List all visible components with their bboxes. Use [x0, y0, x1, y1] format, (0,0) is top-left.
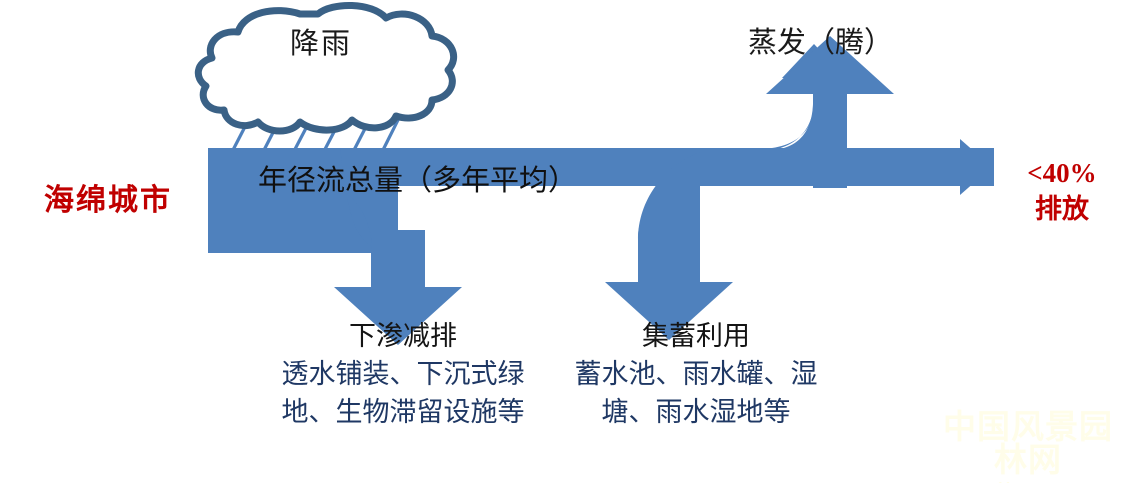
- discharge-percent: <40%: [1012, 155, 1112, 191]
- rain-cloud-icon: [198, 5, 453, 131]
- branch-storage-description: 蓄水池、雨水罐、湿塘、雨水湿地等: [562, 356, 830, 431]
- annual-runoff-label: 年径流总量（多年平均）: [258, 163, 577, 199]
- discharge-label: 排放: [1035, 194, 1089, 224]
- branch-storage-title: 集蓄利用: [562, 320, 830, 352]
- rainfall-label: 降雨: [290, 26, 352, 62]
- branch-storage: 集蓄利用 蓄水池、雨水罐、湿塘、雨水湿地等: [562, 320, 830, 431]
- discharge-callout: <40% 排放: [1012, 155, 1112, 228]
- evaporation-label: 蒸发（腾）: [748, 25, 893, 61]
- discharge-arrow-head: [960, 139, 992, 195]
- branch-infiltration-description: 透水铺装、下沉式绿地、生物滞留设施等: [258, 356, 548, 431]
- branch-infiltration: 下渗减排 透水铺装、下沉式绿地、生物滞留设施等: [258, 320, 548, 431]
- sponge-city-title: 海绵城市: [44, 182, 172, 220]
- site-watermark: 中国风景园林网 chla.com.cn: [928, 412, 1128, 474]
- watermark-text: 中国风景园林网: [943, 410, 1113, 479]
- sponge-city-water-cycle-diagram: 海绵城市 降雨 蒸发（腾） 年径流总量（多年平均） <40% 排放 下渗减排 透…: [0, 0, 1134, 483]
- branch-infiltration-title: 下渗减排: [258, 320, 548, 352]
